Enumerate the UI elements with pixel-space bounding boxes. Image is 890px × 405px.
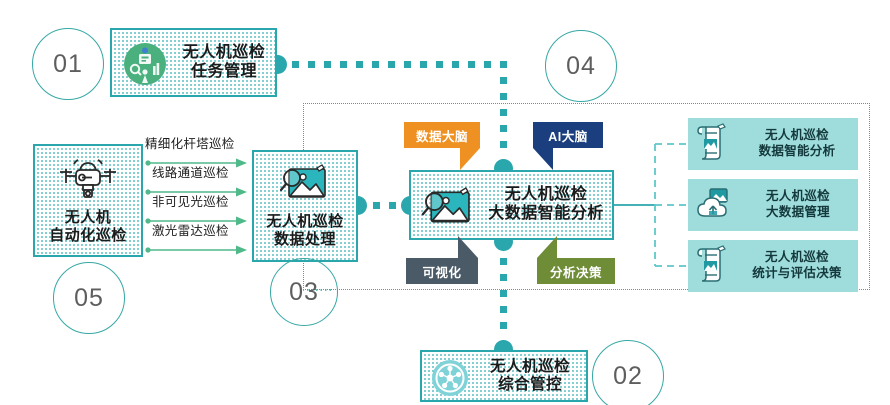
output-box-1-label: 无人机巡检 大数据管理 xyxy=(738,189,858,220)
callout-data-brain-tail xyxy=(460,148,480,170)
callout-ai-brain[interactable]: AI大脑 xyxy=(533,122,603,148)
output-box-0[interactable]: 无人机巡检 数据智能分析 xyxy=(688,118,858,170)
node-auto-inspection-label: 无人机 自动化巡检 xyxy=(49,209,127,244)
callout-ai-brain-tail xyxy=(533,148,553,170)
callout-analysis-decision[interactable]: 分析决策 xyxy=(537,258,615,284)
callout-visualization[interactable]: 可视化 xyxy=(406,258,478,284)
callout-visualization-label: 可视化 xyxy=(406,258,478,284)
node-auto-inspection-line2: 自动化巡检 xyxy=(49,227,127,245)
image-search-icon xyxy=(420,186,476,235)
node-task-management[interactable]: 无人机巡检 任务管理 xyxy=(110,28,277,97)
node-data-processing-label: 无人机巡检 数据处理 xyxy=(266,213,344,248)
node-task-management-line2: 任务管理 xyxy=(174,63,274,82)
arrow-label-2: 非可见光巡检 xyxy=(152,191,229,210)
node-task-management-line1: 无人机巡检 xyxy=(174,44,274,63)
node-auto-inspection[interactable]: 无人机 自动化巡检 xyxy=(33,144,143,257)
output-box-1-line1: 无人机巡检 xyxy=(738,189,858,205)
node-task-management-label: 无人机巡检 任务管理 xyxy=(174,44,274,82)
node-data-processing-line2: 数据处理 xyxy=(266,231,344,249)
node-bigdata-analysis-line1: 无人机巡检 xyxy=(481,186,611,205)
node-data-processing-line1: 无人机巡检 xyxy=(266,213,344,231)
output-box-0-line1: 无人机巡检 xyxy=(736,128,858,144)
arrow-label-3: 激光雷达巡检 xyxy=(152,220,229,239)
node-integrated-control-line2: 综合管控 xyxy=(478,376,582,394)
step-number-04: 04 xyxy=(545,30,617,102)
node-integrated-control-label: 无人机巡检 综合管控 xyxy=(478,358,582,395)
diagram-canvas: 01 无人机巡检 任务管理 xyxy=(0,0,890,405)
step-number-04-text: 04 xyxy=(566,52,596,81)
arrow-label-0: 精细化杆塔巡检 xyxy=(145,133,235,152)
callout-data-brain-label: 数据大脑 xyxy=(404,122,480,148)
callout-analysis-decision-tail xyxy=(537,236,557,258)
output-box-1-line2: 大数据管理 xyxy=(738,205,858,221)
output-box-2-line1: 无人机巡检 xyxy=(736,250,858,266)
node-bigdata-analysis[interactable]: 无人机巡检 大数据智能分析 xyxy=(409,170,614,240)
task-management-icon xyxy=(122,41,168,92)
output-box-1[interactable]: 无人机巡检 大数据管理 xyxy=(688,179,858,231)
step-number-05: 05 xyxy=(53,262,125,334)
step-number-03-text: 03 xyxy=(289,278,319,307)
callout-analysis-decision-label: 分析决策 xyxy=(537,258,615,284)
image-search-icon xyxy=(279,163,331,210)
step-number-01-text: 01 xyxy=(53,50,83,79)
step-number-05-text: 05 xyxy=(74,284,104,313)
output-box-0-line2: 数据智能分析 xyxy=(736,144,858,160)
step-number-02: 02 xyxy=(592,340,664,405)
document-chart-icon xyxy=(694,123,730,166)
node-bigdata-analysis-label: 无人机巡检 大数据智能分析 xyxy=(481,186,611,224)
node-auto-inspection-line1: 无人机 xyxy=(49,209,127,227)
output-box-0-label: 无人机巡检 数据智能分析 xyxy=(736,128,858,159)
node-bigdata-analysis-line2: 大数据智能分析 xyxy=(481,205,611,224)
arrow-label-1: 线路通道巡检 xyxy=(152,162,229,181)
step-number-01: 01 xyxy=(32,28,104,100)
output-box-2-line2: 统计与评估决策 xyxy=(736,266,858,282)
document-chart-icon xyxy=(694,245,730,288)
node-integrated-control[interactable]: 无人机巡检 综合管控 xyxy=(420,350,588,402)
output-box-2[interactable]: 无人机巡检 统计与评估决策 xyxy=(688,240,858,292)
cloud-upload-icon xyxy=(694,186,732,225)
drone-icon xyxy=(52,156,124,205)
network-hub-icon xyxy=(430,358,470,403)
step-number-03: 03 xyxy=(270,258,338,326)
node-integrated-control-line1: 无人机巡检 xyxy=(478,358,582,376)
node-data-processing[interactable]: 无人机巡检 数据处理 xyxy=(252,150,358,262)
step-number-02-text: 02 xyxy=(613,362,643,391)
output-box-2-label: 无人机巡检 统计与评估决策 xyxy=(736,250,858,281)
callout-ai-brain-label: AI大脑 xyxy=(533,122,603,148)
callout-visualization-tail xyxy=(458,236,478,258)
callout-data-brain[interactable]: 数据大脑 xyxy=(404,122,480,148)
